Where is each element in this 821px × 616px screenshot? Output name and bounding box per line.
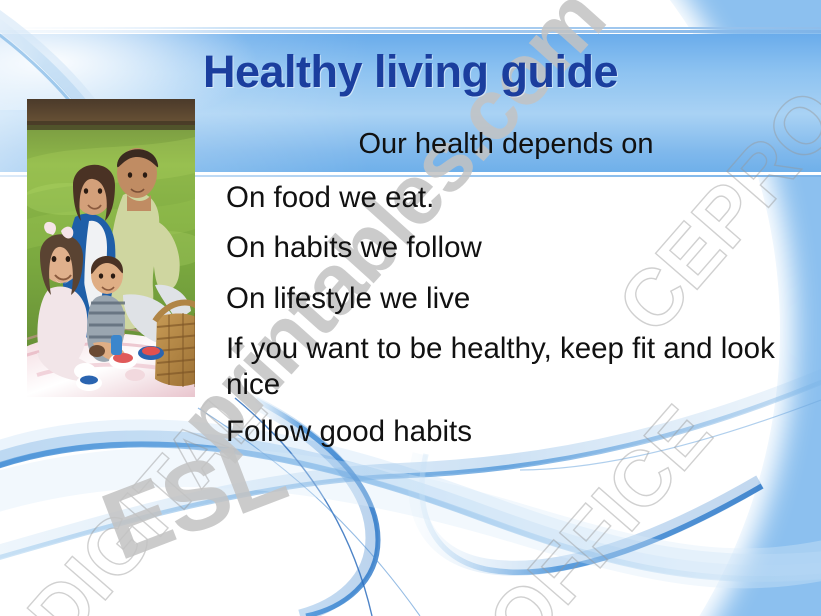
family-picnic-photo [27,99,195,397]
bullet-line: On habits we follow [226,230,786,265]
bullet-list: On food we eat. On habits we follow On l… [226,180,786,464]
subtitle-text: Our health depends on [206,128,806,161]
bullet-line: On lifestyle we live [226,281,786,316]
slide-canvas: DIGITAL OFFICE CEPRO printables.com [0,0,821,616]
bullet-line: Follow good habits [226,414,786,449]
bullet-line: On food we eat. [226,180,786,215]
page-title: Healthy living guide [0,46,821,98]
bullet-line: If you want to be healthy, keep fit and … [226,331,786,402]
